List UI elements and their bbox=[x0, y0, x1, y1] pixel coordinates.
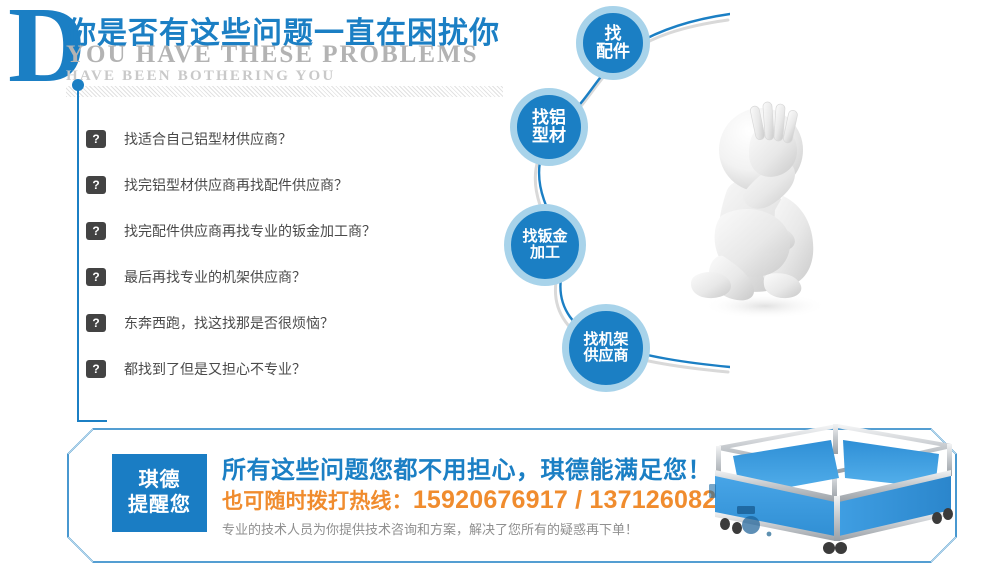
flow-node[interactable]: 找钣金加工 bbox=[504, 204, 586, 286]
flow-node-label: 找铝 bbox=[532, 109, 566, 127]
hotline-label: 也可随时拨打热线： bbox=[222, 490, 413, 513]
bracket-foot-line bbox=[77, 420, 107, 422]
flow-node-label: 找 bbox=[605, 25, 622, 43]
problem-list-item-label: 最后再找专业的机架供应商？ bbox=[124, 268, 306, 287]
flow-node[interactable]: 找配件 bbox=[576, 6, 650, 80]
aluminum-frame-workbench-image bbox=[689, 412, 961, 554]
flow-node-label: 供应商 bbox=[583, 348, 628, 364]
page-subtitle-en-line2: HAVE BEEN BOTHERING YOU bbox=[66, 68, 335, 85]
badge-line-2: 提醒您 bbox=[128, 493, 191, 518]
problem-list-item-label: 都找到了但是又担心不专业？ bbox=[124, 360, 306, 379]
flow-node-label: 加工 bbox=[530, 245, 560, 261]
problem-list-item-label: 找完配件供应商再找专业的钣金加工商？ bbox=[124, 222, 376, 241]
flow-node-label: 找钣金 bbox=[522, 229, 567, 245]
bracket-vertical-line bbox=[77, 84, 79, 422]
problem-list-item-label: 东奔西跑，找这找那是否很烦恼？ bbox=[124, 314, 334, 333]
hatched-divider bbox=[66, 86, 503, 97]
badge-line-1: 琪德 bbox=[139, 468, 181, 493]
flow-node[interactable]: 找机架供应商 bbox=[562, 304, 650, 392]
promo-banner-page: D 你是否有这些问题一直在困扰你 YOU HAVE THESE PROBLEMS… bbox=[0, 0, 982, 579]
cta-banner: 琪德 提醒您 所有这些问题您都不用担心，琪德能满足您！ 也可随时拨打热线：159… bbox=[67, 428, 957, 563]
page-subtitle-en-line1: YOU HAVE THESE PROBLEMS bbox=[66, 41, 479, 69]
question-mark-icon: ? bbox=[86, 268, 106, 286]
cta-headline: 所有这些问题您都不用担心，琪德能满足您！ bbox=[222, 450, 712, 485]
process-flow-diagram: 找配件找铝型材找钣金加工找机架供应商 bbox=[470, 0, 730, 410]
question-mark-icon: ? bbox=[86, 130, 106, 148]
cta-hotline: 也可随时拨打热线：15920676917 / 13712608258 bbox=[222, 485, 745, 515]
flow-node[interactable]: 找铝型材 bbox=[510, 88, 588, 166]
flow-node-label: 型材 bbox=[532, 127, 566, 145]
problem-list-item-label: 找完铝型材供应商再找配件供应商？ bbox=[124, 176, 348, 195]
flow-node-label: 配件 bbox=[596, 43, 630, 61]
question-mark-icon: ? bbox=[86, 360, 106, 378]
question-mark-icon: ? bbox=[86, 176, 106, 194]
problem-list-item-label: 找适合自己铝型材供应商？ bbox=[124, 130, 292, 149]
flow-node-label: 找机架 bbox=[583, 332, 628, 348]
question-mark-icon: ? bbox=[86, 314, 106, 332]
reminder-badge: 琪德 提醒您 bbox=[112, 454, 207, 532]
question-mark-icon: ? bbox=[86, 222, 106, 240]
cta-subtext: 专业的技术人员为你提供技术咨询和方案，解决了您所有的疑惑再下单！ bbox=[222, 519, 638, 538]
